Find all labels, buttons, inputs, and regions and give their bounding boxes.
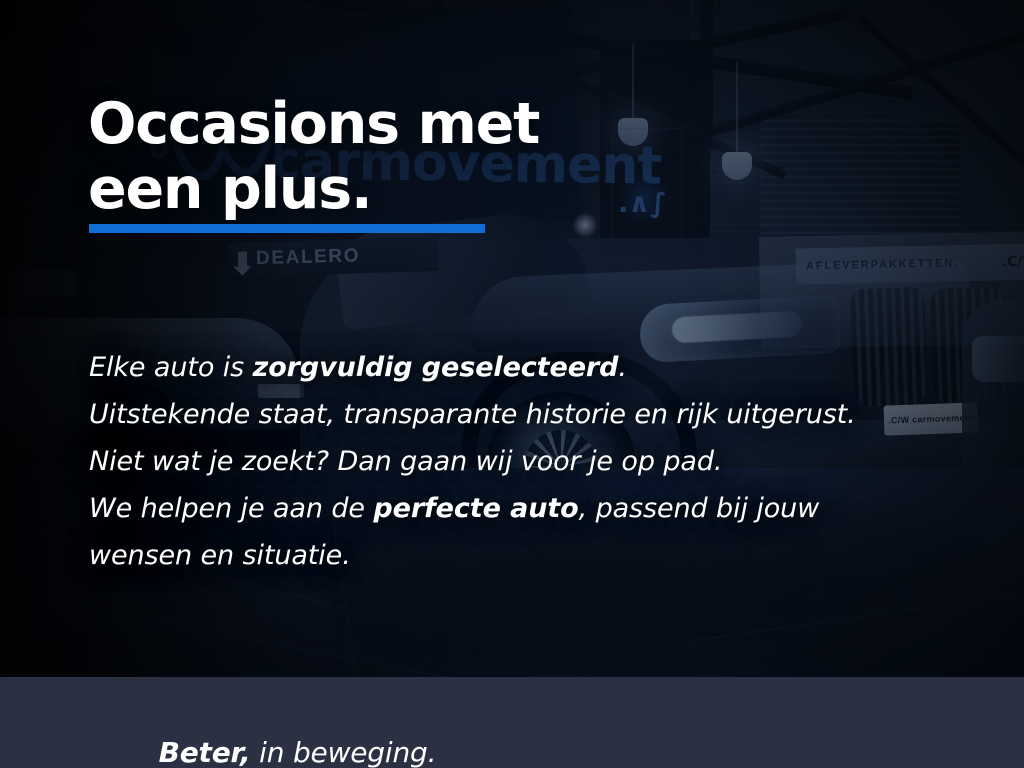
footer-tagline-rest: in beweging. (250, 736, 436, 768)
body-copy-line: Elke auto is zorgvuldig geselecteerd. (89, 344, 949, 391)
body-copy-emphasis: zorgvuldig geselecteerd (253, 352, 619, 383)
body-copy-text: We helpen je aan de (89, 493, 373, 524)
accent-divider-bar (89, 224, 485, 233)
footer-bar: Beter, in beweging. (0, 677, 1024, 768)
body-copy-text: Niet wat je zoekt? Dan gaan wij voor je … (89, 446, 722, 477)
page-title: Occasions met een plus. (88, 92, 648, 221)
body-copy-line: Uitstekende staat, transparante historie… (89, 391, 949, 438)
body-copy-text: Uitstekende staat, transparante historie… (89, 399, 856, 430)
body-copy-text: , passend bij jouw (579, 493, 820, 524)
slide-canvas: carmovement .∧∫ .C/W carmovement (0, 0, 1024, 768)
body-copy-line: Niet wat je zoekt? Dan gaan wij voor je … (89, 438, 949, 485)
body-copy: Elke auto is zorgvuldig geselecteerd.Uit… (89, 344, 949, 579)
body-copy-text: Elke auto is (89, 352, 253, 383)
footer-tagline-bold: Beter, (159, 736, 251, 768)
footer-tagline: Beter, in beweging. (89, 703, 436, 768)
body-copy-line: We helpen je aan de perfecte auto, passe… (89, 485, 949, 532)
body-copy-emphasis: perfecte auto (373, 493, 578, 524)
body-copy-text: wensen en situatie. (89, 540, 351, 571)
body-copy-text: . (618, 352, 626, 383)
body-copy-line: wensen en situatie. (89, 532, 949, 579)
slide-content: Occasions met een plus. Elke auto is zor… (0, 0, 1024, 768)
